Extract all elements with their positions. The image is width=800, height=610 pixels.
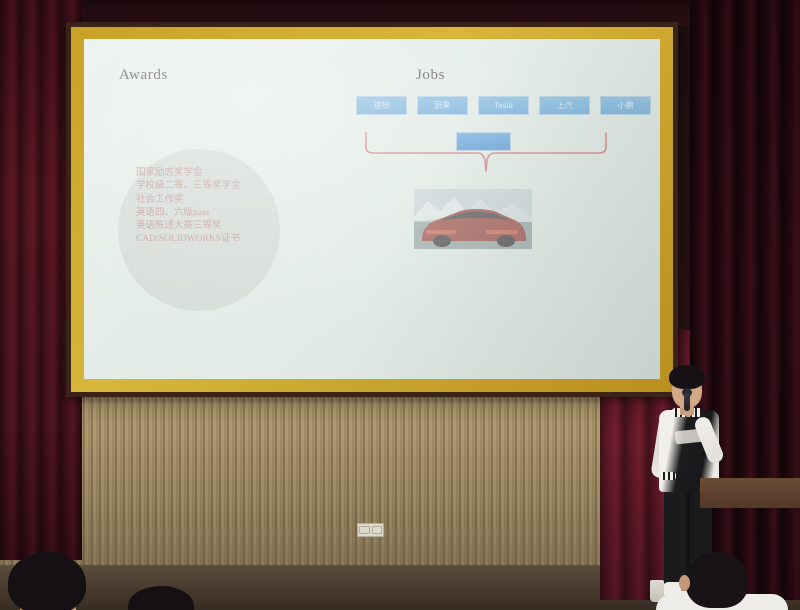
car-photo — [414, 189, 532, 249]
awards-item: 社会工作奖 — [136, 194, 286, 207]
jobs-section-title: Jobs — [416, 67, 445, 84]
screen-frame: Awards 国家励志奖学金 学校级二等、三等奖学金 社会工作奖 英语四、六级p… — [71, 27, 673, 392]
awards-item: 国家励志奖学金 — [136, 167, 286, 180]
awards-item: CAD/SOLIDWORKS证书 — [136, 233, 286, 246]
job-company-box: Tesla — [478, 96, 529, 115]
awards-section-title: Awards — [119, 67, 168, 84]
awards-item: 英语陈述大赛三等奖 — [136, 220, 286, 233]
microphone — [684, 393, 690, 411]
presenter-cuff — [660, 472, 676, 480]
projection-screen: Awards 国家励志奖学金 学校级二等、三等奖学金 社会工作奖 英语四、六级p… — [66, 22, 678, 397]
job-company-box: 蔚来 — [417, 96, 468, 115]
job-company-box: 理想 — [356, 96, 407, 115]
job-company-box: 上汽 — [539, 96, 590, 115]
audience-member-head — [8, 552, 86, 610]
presentation-slide: Awards 国家励志奖学金 学校级二等、三等奖学金 社会工作奖 英语四、六级p… — [84, 39, 660, 379]
auditorium-presentation-photo: Awards 国家励志奖学金 学校级二等、三等奖学金 社会工作奖 英语四、六级p… — [0, 0, 800, 610]
awards-item: 英语四、六级pass — [136, 207, 286, 220]
wall-power-outlet — [357, 523, 384, 537]
presenter-hair — [669, 365, 705, 389]
awards-list: 国家励志奖学金 学校级二等、三等奖学金 社会工作奖 英语四、六级pass 英语陈… — [136, 167, 286, 247]
job-company-box-row: 理想 蔚来 Tesla 上汽 小鹏 — [356, 96, 651, 115]
audience-member-ear — [679, 575, 690, 591]
job-company-box: 小鹏 — [600, 96, 651, 115]
curly-brace-connector — [364, 131, 608, 173]
awards-item: 学校级二等、三等奖学金 — [136, 180, 286, 193]
screen-surface: Awards 国家励志奖学金 学校级二等、三等奖学金 社会工作奖 英语四、六级p… — [84, 39, 660, 379]
stage-table — [700, 478, 800, 508]
audience-member-head — [686, 552, 748, 608]
